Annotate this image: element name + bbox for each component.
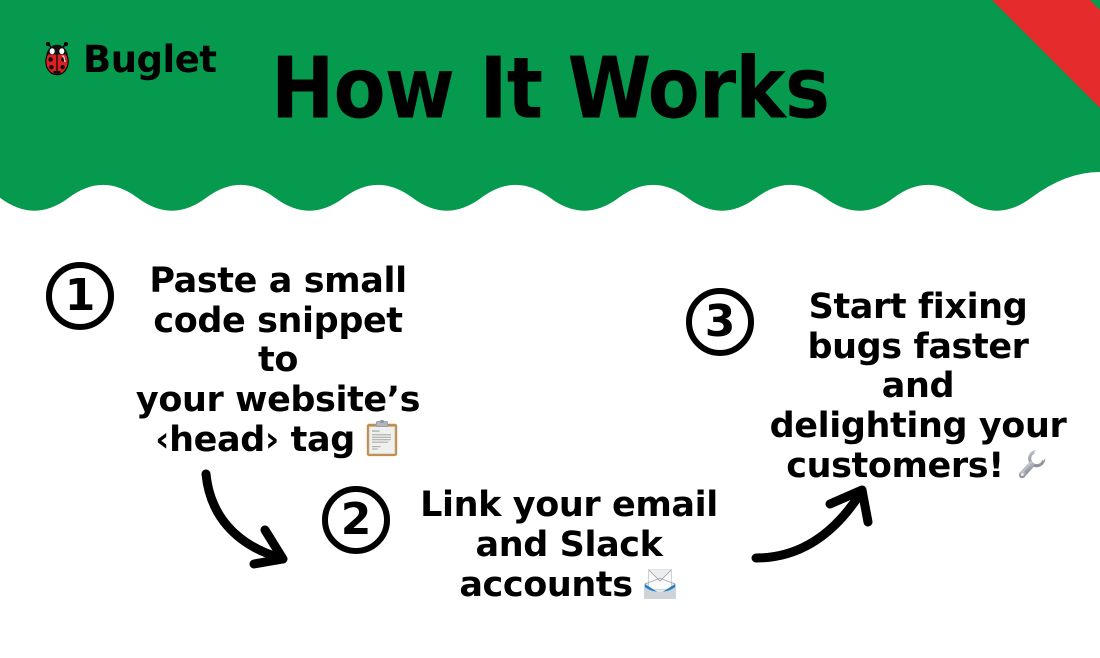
step-3: 3 Start fixing bugs faster and delightin… bbox=[686, 288, 1086, 487]
step-2-line-2: and Slack bbox=[475, 525, 662, 565]
step-1-line-4: ‹head› tag bbox=[155, 420, 355, 460]
step-3-line-1: Start fixing bbox=[809, 287, 1028, 327]
step-3-line-3: delighting your bbox=[770, 406, 1067, 446]
step-2: 2 Link your email and Slack accounts bbox=[322, 486, 742, 606]
step-2-text: Link your email and Slack accounts bbox=[404, 486, 734, 606]
step-1-line-2: code snippet to bbox=[153, 301, 402, 381]
page-title: How It Works bbox=[0, 46, 1100, 131]
step-1-line-1: Paste a small bbox=[149, 261, 406, 301]
step-3-line-4: customers! bbox=[786, 446, 1004, 486]
step-3-line-2: bugs faster and bbox=[807, 327, 1028, 407]
page-header: Buglet How It Works bbox=[0, 0, 1100, 215]
step-2-number: 2 bbox=[322, 486, 390, 554]
step-1-number: 1 bbox=[46, 262, 114, 330]
step-2-line-3: accounts bbox=[459, 565, 632, 605]
incoming-envelope-icon bbox=[641, 565, 679, 603]
clipboard-icon bbox=[363, 420, 401, 458]
step-3-number: 3 bbox=[686, 288, 754, 356]
step-1: 1 Paste a small code snippet to your web… bbox=[46, 262, 446, 461]
step-3-text: Start fixing bugs faster and delighting … bbox=[768, 288, 1068, 487]
step-1-text: Paste a small code snippet to your websi… bbox=[128, 262, 428, 461]
step-2-line-1: Link your email bbox=[420, 485, 718, 525]
wrench-icon bbox=[1012, 446, 1050, 484]
arrow-step1-to-step2 bbox=[186, 458, 306, 573]
step-1-line-3: your website’s bbox=[136, 380, 420, 420]
